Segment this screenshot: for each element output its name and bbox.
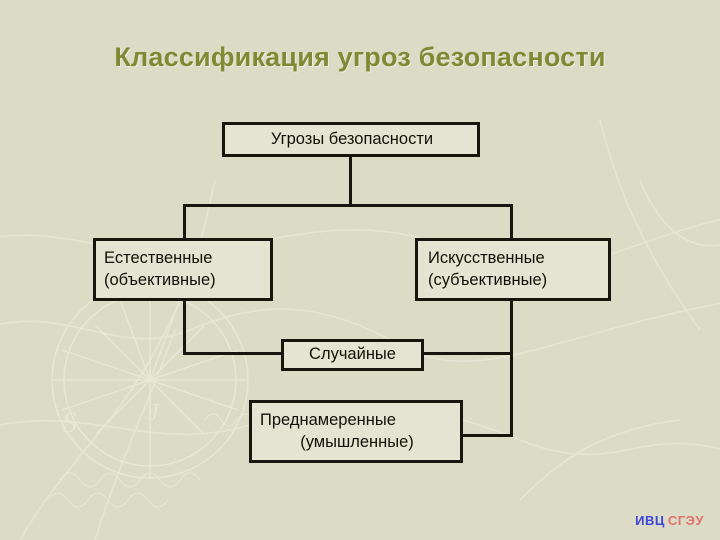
connector-to-natural bbox=[183, 204, 186, 240]
node-root-label: Угрозы безопасности bbox=[271, 129, 433, 151]
slide-canvas: S J Классификация угроз безопасности Угр… bbox=[0, 0, 720, 540]
node-natural-label-1: Естественные bbox=[104, 248, 212, 270]
node-artificial-label-1: Искусственные bbox=[428, 248, 545, 270]
node-root-threats[interactable]: Угрозы безопасности bbox=[222, 122, 480, 157]
node-natural-threats[interactable]: Естественные (объективные) bbox=[93, 238, 273, 301]
connector-artificial-to-random bbox=[422, 352, 513, 355]
svg-text:J: J bbox=[148, 400, 160, 426]
connector-natural-to-random bbox=[183, 352, 283, 355]
logo-ivc-text: ИВЦ bbox=[635, 513, 665, 528]
connector-artificial-to-deliberate bbox=[461, 434, 513, 437]
connector-root-stem bbox=[349, 156, 352, 206]
node-deliberate-threats[interactable]: Преднамеренные (умышленные) bbox=[249, 400, 463, 463]
connector-to-artificial bbox=[510, 204, 513, 240]
node-artificial-threats[interactable]: Искусственные (субъективные) bbox=[415, 238, 611, 301]
connector-artificial-drop bbox=[510, 299, 513, 437]
logo-sgeu-text: СГЭУ bbox=[668, 513, 704, 528]
page-title: Классификация угроз безопасности bbox=[0, 42, 720, 73]
svg-text:S: S bbox=[62, 406, 77, 439]
node-deliberate-label-1: Преднамеренные bbox=[254, 410, 460, 432]
node-random-threats[interactable]: Случайные bbox=[281, 339, 424, 371]
node-random-label: Случайные bbox=[309, 344, 396, 366]
node-natural-label-2: (объективные) bbox=[104, 270, 216, 292]
node-deliberate-label-2: (умышленные) bbox=[254, 432, 460, 454]
footer-logo: ИВЦСГЭУ bbox=[635, 513, 704, 528]
connector-level1-bar bbox=[183, 204, 513, 207]
connector-natural-drop bbox=[183, 299, 186, 355]
node-artificial-label-2: (субъективные) bbox=[428, 270, 547, 292]
